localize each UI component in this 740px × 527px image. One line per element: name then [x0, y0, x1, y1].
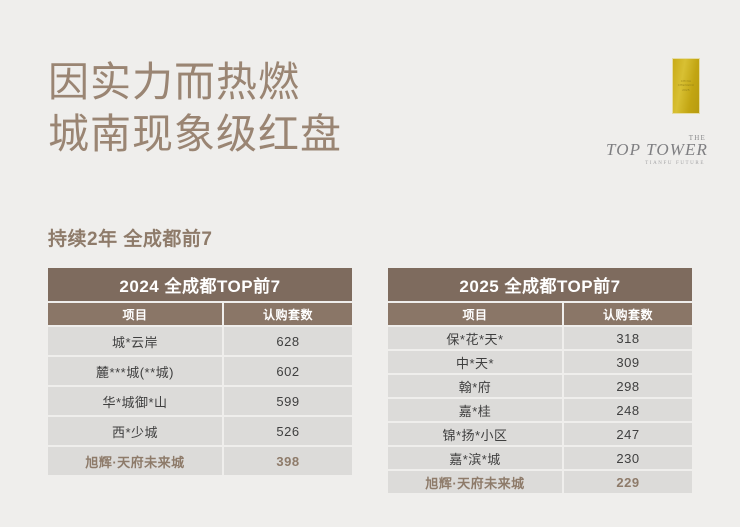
cell-subscription-count: 230 — [564, 447, 692, 469]
cell-subscription-count: 309 — [564, 351, 692, 373]
column-header-value: 认购套数 — [564, 303, 692, 325]
gold-badge-icon: CHINA CHENGDU 2025 — [672, 58, 700, 114]
logo-wordmark: THE TOP TOWER TIANFU FUTURE — [596, 134, 708, 166]
cell-project-name: 嘉*滨*城 — [388, 447, 562, 469]
table-row: 华*城御*山 599 — [48, 387, 352, 415]
cell-subscription-count: 398 — [224, 447, 352, 475]
cell-project-name: 中*天* — [388, 351, 562, 373]
cell-project-name: 锦*扬*小区 — [388, 423, 562, 445]
cell-project-name: 旭辉·天府未来城 — [388, 471, 562, 493]
table-body: 保*花*天* 318 中*天* 309 翰*府 298 嘉*桂 248 锦*扬*… — [388, 327, 692, 493]
table-row: 锦*扬*小区 247 — [388, 423, 692, 445]
cell-subscription-count: 248 — [564, 399, 692, 421]
page-title: 因实力而热燃 城南现象级红盘 — [48, 56, 342, 160]
table-column-headers: 项目 认购套数 — [48, 303, 352, 325]
table-title: 2024 全成都TOP前7 — [48, 268, 352, 301]
cell-subscription-count: 602 — [224, 357, 352, 385]
cell-subscription-count: 298 — [564, 375, 692, 397]
table-top7-2025: 2025 全成都TOP前7 项目 认购套数 保*花*天* 318 中*天* 30… — [388, 268, 692, 495]
table-row: 麓***城(**城) 602 — [48, 357, 352, 385]
cell-subscription-count: 318 — [564, 327, 692, 349]
slide-header: 因实力而热燃 城南现象级红盘 CHINA CHENGDU 2025 THE TO… — [0, 0, 740, 205]
cell-project-name: 保*花*天* — [388, 327, 562, 349]
cell-project-name: 城*云岸 — [48, 327, 222, 355]
column-header-value: 认购套数 — [224, 303, 352, 325]
logo-name-text: TOP TOWER — [596, 140, 708, 160]
cell-project-name: 翰*府 — [388, 375, 562, 397]
table-column-headers: 项目 认购套数 — [388, 303, 692, 325]
gold-badge-text: CHINA CHENGDU 2025 — [674, 80, 699, 93]
table-title: 2025 全成都TOP前7 — [388, 268, 692, 301]
cell-project-name: 华*城御*山 — [48, 387, 222, 415]
table-row: 嘉*桂 248 — [388, 399, 692, 421]
column-header-name: 项目 — [48, 303, 222, 325]
logo-tagline-text: TIANFU FUTURE — [596, 161, 705, 166]
cell-project-name: 麓***城(**城) — [48, 357, 222, 385]
table-row-highlighted: 旭辉·天府未来城 229 — [388, 471, 692, 493]
cell-subscription-count: 599 — [224, 387, 352, 415]
brand-logo: CHINA CHENGDU 2025 THE TOP TOWER TIANFU … — [596, 58, 708, 170]
table-row: 嘉*滨*城 230 — [388, 447, 692, 469]
table-row: 城*云岸 628 — [48, 327, 352, 355]
table-row: 中*天* 309 — [388, 351, 692, 373]
cell-subscription-count: 628 — [224, 327, 352, 355]
table-body: 城*云岸 628 麓***城(**城) 602 华*城御*山 599 西*少城 … — [48, 327, 352, 475]
cell-subscription-count: 229 — [564, 471, 692, 493]
cell-subscription-count: 526 — [224, 417, 352, 445]
table-row: 保*花*天* 318 — [388, 327, 692, 349]
headline-line-1: 因实力而热燃 — [48, 56, 342, 108]
table-row-highlighted: 旭辉·天府未来城 398 — [48, 447, 352, 475]
subtitle: 持续2年 全成都前7 — [48, 224, 212, 251]
headline-line-2: 城南现象级红盘 — [48, 108, 342, 160]
cell-project-name: 嘉*桂 — [388, 399, 562, 421]
cell-subscription-count: 247 — [564, 423, 692, 445]
cell-project-name: 旭辉·天府未来城 — [48, 447, 222, 475]
column-header-name: 项目 — [388, 303, 562, 325]
cell-project-name: 西*少城 — [48, 417, 222, 445]
table-row: 西*少城 526 — [48, 417, 352, 445]
table-row: 翰*府 298 — [388, 375, 692, 397]
table-top7-2024: 2024 全成都TOP前7 项目 认购套数 城*云岸 628 麓***城(**城… — [48, 268, 352, 477]
